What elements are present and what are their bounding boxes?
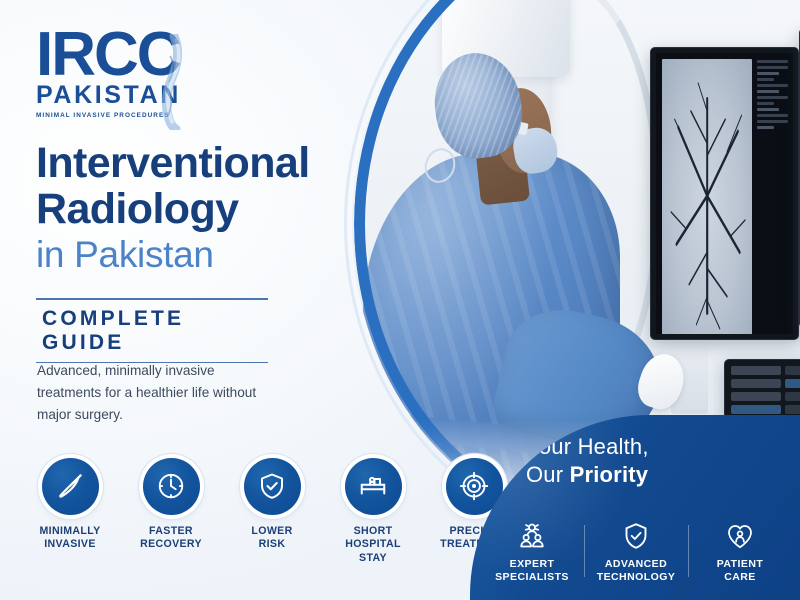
clock-icon [143,458,200,515]
panel-feature-row: EXPERTSPECIALISTS ADVANCEDTECHNOLOGY [480,521,792,584]
heart-patient-icon [725,521,755,551]
rule-top [36,298,268,300]
complete-guide-label: COMPLETE GUIDE [36,300,268,362]
shield-check-icon [621,521,651,551]
panel-feature-expert-specialists[interactable]: EXPERTSPECIALISTS [480,521,584,584]
page-title: Interventional Radiology in Pakistan [36,140,386,277]
feature-short-hospital-stay[interactable]: SHORT HOSPITALSTAY [325,458,421,566]
panel-feature-advanced-technology[interactable]: ADVANCEDTECHNOLOGY [584,521,688,584]
panel-feature-patient-care[interactable]: PATIENTCARE [688,521,792,584]
feature-lower-risk[interactable]: LOWERRISK [224,458,320,553]
feature-faster-recovery[interactable]: FASTERRECOVERY [123,458,219,553]
tagline-panel: Your Health, Our Priority [470,415,800,600]
scalpel-icon [42,458,99,515]
feature-minimally-invasive[interactable]: MINIMALLYINVASIVE [22,458,118,553]
feature-row: MINIMALLYINVASIVE FASTERRECOVERY LOW [22,458,522,566]
logo-wordmark: IRCC [36,26,246,83]
headline-line-1: Interventional [36,140,386,186]
brand-logo[interactable]: IRCC PAKISTAN MINIMAL INVASIVE PROCEDURE… [36,26,246,134]
description-text: Advanced, minimally invasive treatments … [37,360,267,426]
feature-label: SHORT HOSPITALSTAY [325,525,421,566]
poster-root: IRCC PAKISTAN MINIMAL INVASIVE PROCEDURE… [0,0,800,600]
shield-check-icon [244,458,301,515]
panel-feature-label: EXPERTSPECIALISTS [495,558,569,584]
leg-vein-icon [144,34,202,130]
feature-label: FASTERRECOVERY [140,525,202,553]
headline-line-3: in Pakistan [36,233,386,277]
doctors-group-icon [517,521,547,551]
hospital-bed-icon [345,458,402,515]
logo-tagline: MINIMAL INVASIVE PROCEDURES [36,112,246,119]
headline-line-2: Radiology [36,186,386,232]
feature-label: LOWERRISK [251,525,292,553]
panel-title-line-2: Our Priority [526,461,649,489]
panel-title: Your Health, Our Priority [526,433,649,488]
panel-title-line-2-bold: Priority [570,462,649,487]
logo-country: PAKISTAN [36,81,246,110]
complete-guide-ribbon: COMPLETE GUIDE [36,298,268,363]
feature-label: MINIMALLYINVASIVE [39,525,100,553]
panel-title-line-1: Your Health, [526,433,649,461]
panel-feature-label: PATIENTCARE [717,558,764,584]
panel-feature-label: ADVANCEDTECHNOLOGY [597,558,676,584]
panel-title-line-2-normal: Our [526,462,570,487]
